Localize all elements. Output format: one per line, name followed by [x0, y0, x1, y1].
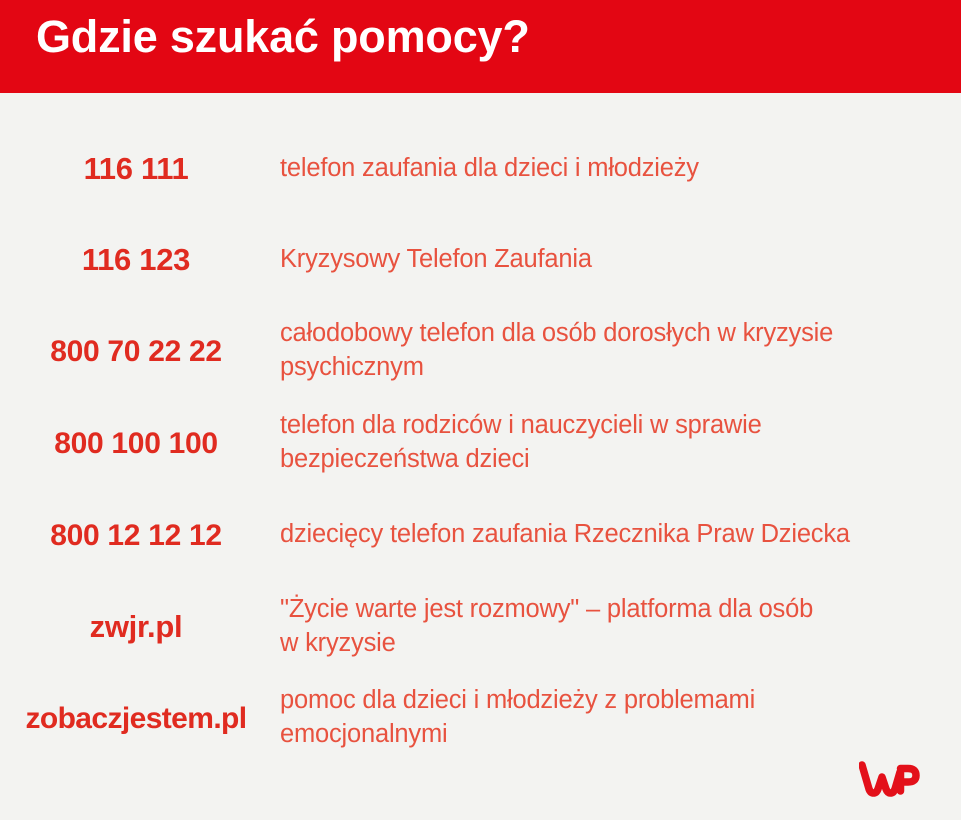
- helpline-website[interactable]: zobaczjestem.pl: [0, 702, 280, 735]
- list-item: 800 70 22 22 całodobowy telefon dla osób…: [0, 305, 961, 397]
- description-line: całodobowy telefon dla osób dorosłych w …: [280, 317, 955, 351]
- description-line: dziecięcy telefon zaufania Rzecznika Pra…: [280, 518, 955, 552]
- helpline-description: Kryzysowy Telefon Zaufania: [280, 243, 961, 277]
- list-item: 116 111 telefon zaufania dla dzieci i mł…: [0, 123, 961, 215]
- helpline-number[interactable]: 116 123: [0, 243, 280, 277]
- helpline-list: 116 111 telefon zaufania dla dzieci i mł…: [0, 93, 961, 733]
- wp-logo-icon: [859, 758, 921, 798]
- list-item: 800 100 100 telefon dla rodziców i naucz…: [0, 397, 961, 489]
- description-line: pomoc dla dzieci i młodzieży z problemam…: [280, 684, 955, 718]
- description-line: telefon dla rodziców i nauczycieli w spr…: [280, 409, 955, 443]
- page-title: Gdzie szukać pomocy?: [36, 9, 530, 65]
- infographic-root: Gdzie szukać pomocy? 116 111 telefon zau…: [0, 0, 961, 820]
- helpline-description: dziecięcy telefon zaufania Rzecznika Pra…: [280, 518, 961, 552]
- helpline-number[interactable]: 116 111: [0, 152, 280, 186]
- helpline-description: telefon dla rodziców i nauczycieli w spr…: [280, 409, 961, 476]
- description-line: bezpieczeństwa dzieci: [280, 443, 955, 477]
- description-line: Kryzysowy Telefon Zaufania: [280, 243, 955, 277]
- list-item: 800 12 12 12 dziecięcy telefon zaufania …: [0, 489, 961, 581]
- helpline-description: całodobowy telefon dla osób dorosłych w …: [280, 317, 961, 384]
- helpline-number[interactable]: 800 70 22 22: [0, 335, 280, 368]
- list-item: 116 123 Kryzysowy Telefon Zaufania: [0, 215, 961, 305]
- list-item: zwjr.pl "Życie warte jest rozmowy" – pla…: [0, 581, 961, 673]
- footer: [0, 732, 961, 820]
- helpline-number[interactable]: 800 12 12 12: [0, 519, 280, 552]
- description-line: "Życie warte jest rozmowy" – platforma d…: [280, 593, 955, 627]
- description-line: telefon zaufania dla dzieci i młodzieży: [280, 152, 955, 186]
- helpline-number[interactable]: 800 100 100: [0, 427, 280, 460]
- helpline-description: telefon zaufania dla dzieci i młodzieży: [280, 152, 961, 186]
- description-line: psychicznym: [280, 351, 955, 385]
- helpline-description: "Życie warte jest rozmowy" – platforma d…: [280, 593, 961, 660]
- helpline-website[interactable]: zwjr.pl: [0, 610, 280, 644]
- description-line: w kryzysie: [280, 627, 955, 661]
- header-banner: Gdzie szukać pomocy?: [0, 0, 961, 93]
